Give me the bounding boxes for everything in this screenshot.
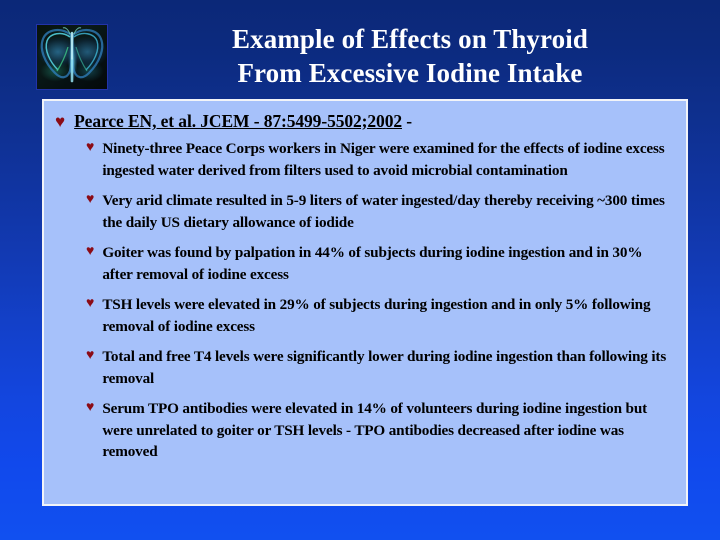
title-line-2: From Excessive Iodine Intake (120, 56, 700, 90)
list-item: ♥ Ninety-three Peace Corps workers in Ni… (86, 138, 674, 181)
title-line-1: Example of Effects on Thyroid (120, 22, 700, 56)
list-item-text: Ninety-three Peace Corps workers in Nige… (102, 138, 674, 181)
list-item: ♥ TSH levels were elevated in 29% of sub… (86, 294, 674, 337)
citation-reference: Pearce EN, et al. JCEM - 87:5499-5502;20… (74, 111, 402, 131)
citation-trailing: - (402, 111, 412, 131)
citation-row: ♥ Pearce EN, et al. JCEM - 87:5499-5502;… (55, 110, 674, 132)
list-item: ♥ Goiter was found by palpation in 44% o… (86, 242, 674, 285)
heart-bullet-icon: ♥ (86, 190, 94, 207)
list-item-text: TSH levels were elevated in 29% of subje… (102, 294, 674, 337)
heart-bullet-icon: ♥ (55, 110, 65, 130)
presentation-slide: Example of Effects on Thyroid From Exces… (0, 0, 720, 540)
list-item-text: Very arid climate resulted in 5-9 liters… (102, 190, 674, 233)
heart-bullet-icon: ♥ (86, 242, 94, 259)
heart-bullet-icon: ♥ (86, 346, 94, 363)
page-title: Example of Effects on Thyroid From Exces… (120, 22, 700, 90)
list-item-text: Goiter was found by palpation in 44% of … (102, 242, 674, 285)
list-item: ♥ Very arid climate resulted in 5-9 lite… (86, 190, 674, 233)
heart-bullet-icon: ♥ (86, 138, 94, 155)
list-item: ♥ Serum TPO antibodies were elevated in … (86, 398, 674, 463)
content-panel: ♥ Pearce EN, et al. JCEM - 87:5499-5502;… (42, 99, 688, 506)
citation-text: Pearce EN, et al. JCEM - 87:5499-5502;20… (74, 110, 412, 132)
list-item-text: Total and free T4 levels were significan… (102, 346, 674, 389)
list-item-text: Serum TPO antibodies were elevated in 14… (102, 398, 674, 463)
heart-bullet-icon: ♥ (86, 398, 94, 415)
thyroid-butterfly-image (36, 24, 108, 90)
heart-bullet-icon: ♥ (86, 294, 94, 311)
list-item: ♥ Total and free T4 levels were signific… (86, 346, 674, 389)
